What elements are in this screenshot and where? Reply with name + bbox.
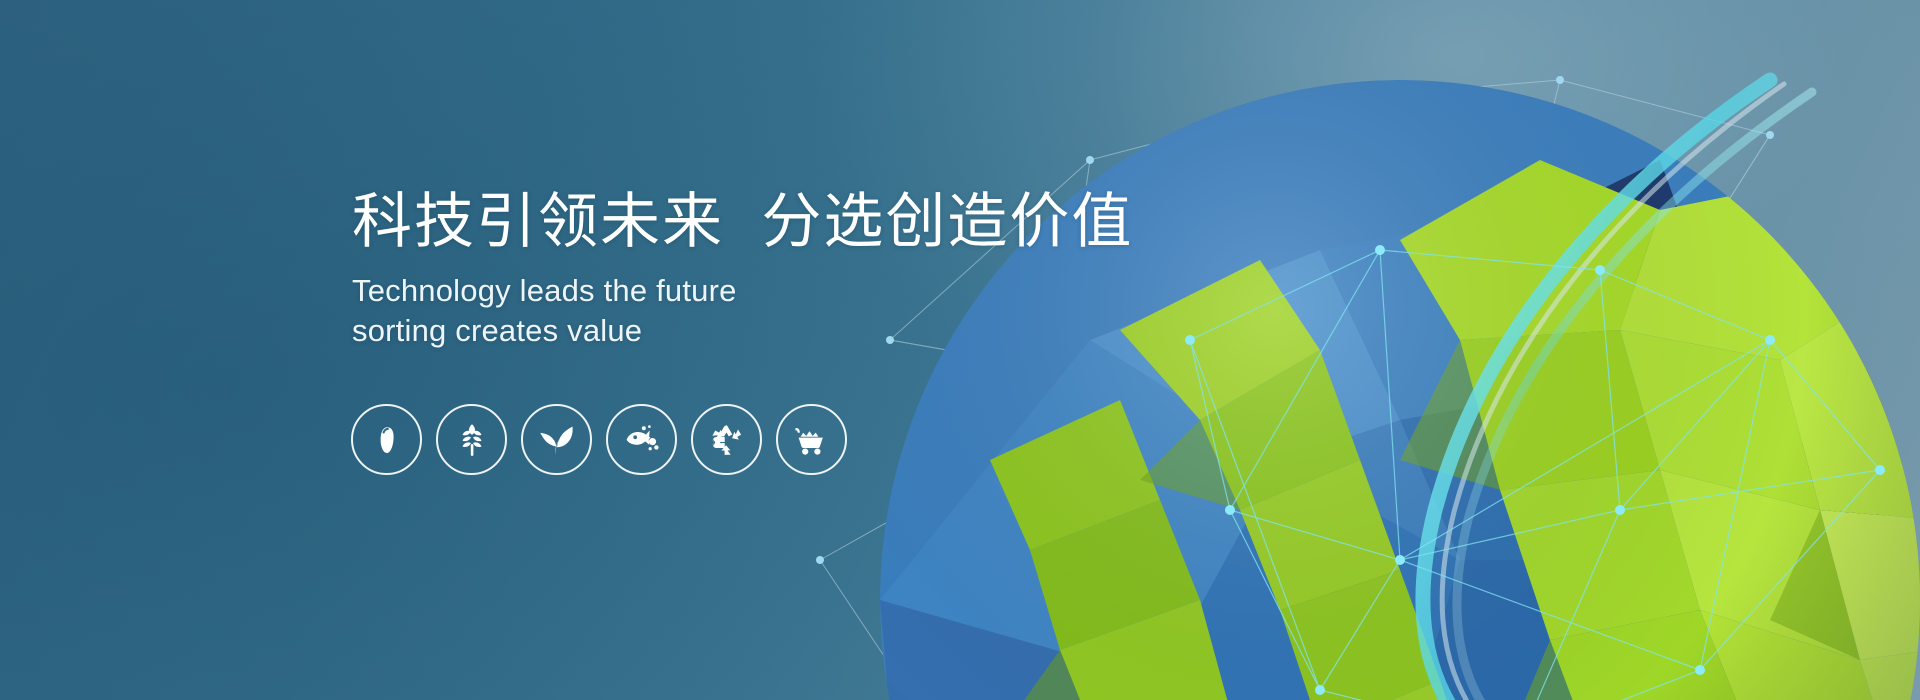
seed-icon [370,423,404,457]
ore-cart-icon-badge[interactable] [776,404,847,475]
globe-graphic [760,40,1920,700]
hero-banner: 科技引领未来 分选创造价值 Technology leads the futur… [0,0,1920,700]
banner-copy: 科技引领未来 分选创造价值 Technology leads the futur… [352,188,1112,352]
recycle-icon [710,423,744,457]
banner-headline: 科技引领未来 分选创造价值 [352,188,1112,255]
banner-subtitle-line-2: sorting creates value [352,311,1112,351]
globe-sphere [880,80,1920,700]
banner-subtitle-line-1: Technology leads the future [352,271,1112,311]
industry-icon-row [351,404,847,475]
wheat-icon [455,422,489,458]
leaf-icon [538,424,576,456]
banner-subtitle: Technology leads the future sorting crea… [352,271,1112,352]
recycle-icon-badge[interactable] [691,404,762,475]
fish-icon [623,425,661,455]
ore-cart-icon [793,424,831,456]
fish-icon-badge[interactable] [606,404,677,475]
seed-icon-badge[interactable] [351,404,422,475]
wheat-icon-badge[interactable] [436,404,507,475]
leaf-icon-badge[interactable] [521,404,592,475]
